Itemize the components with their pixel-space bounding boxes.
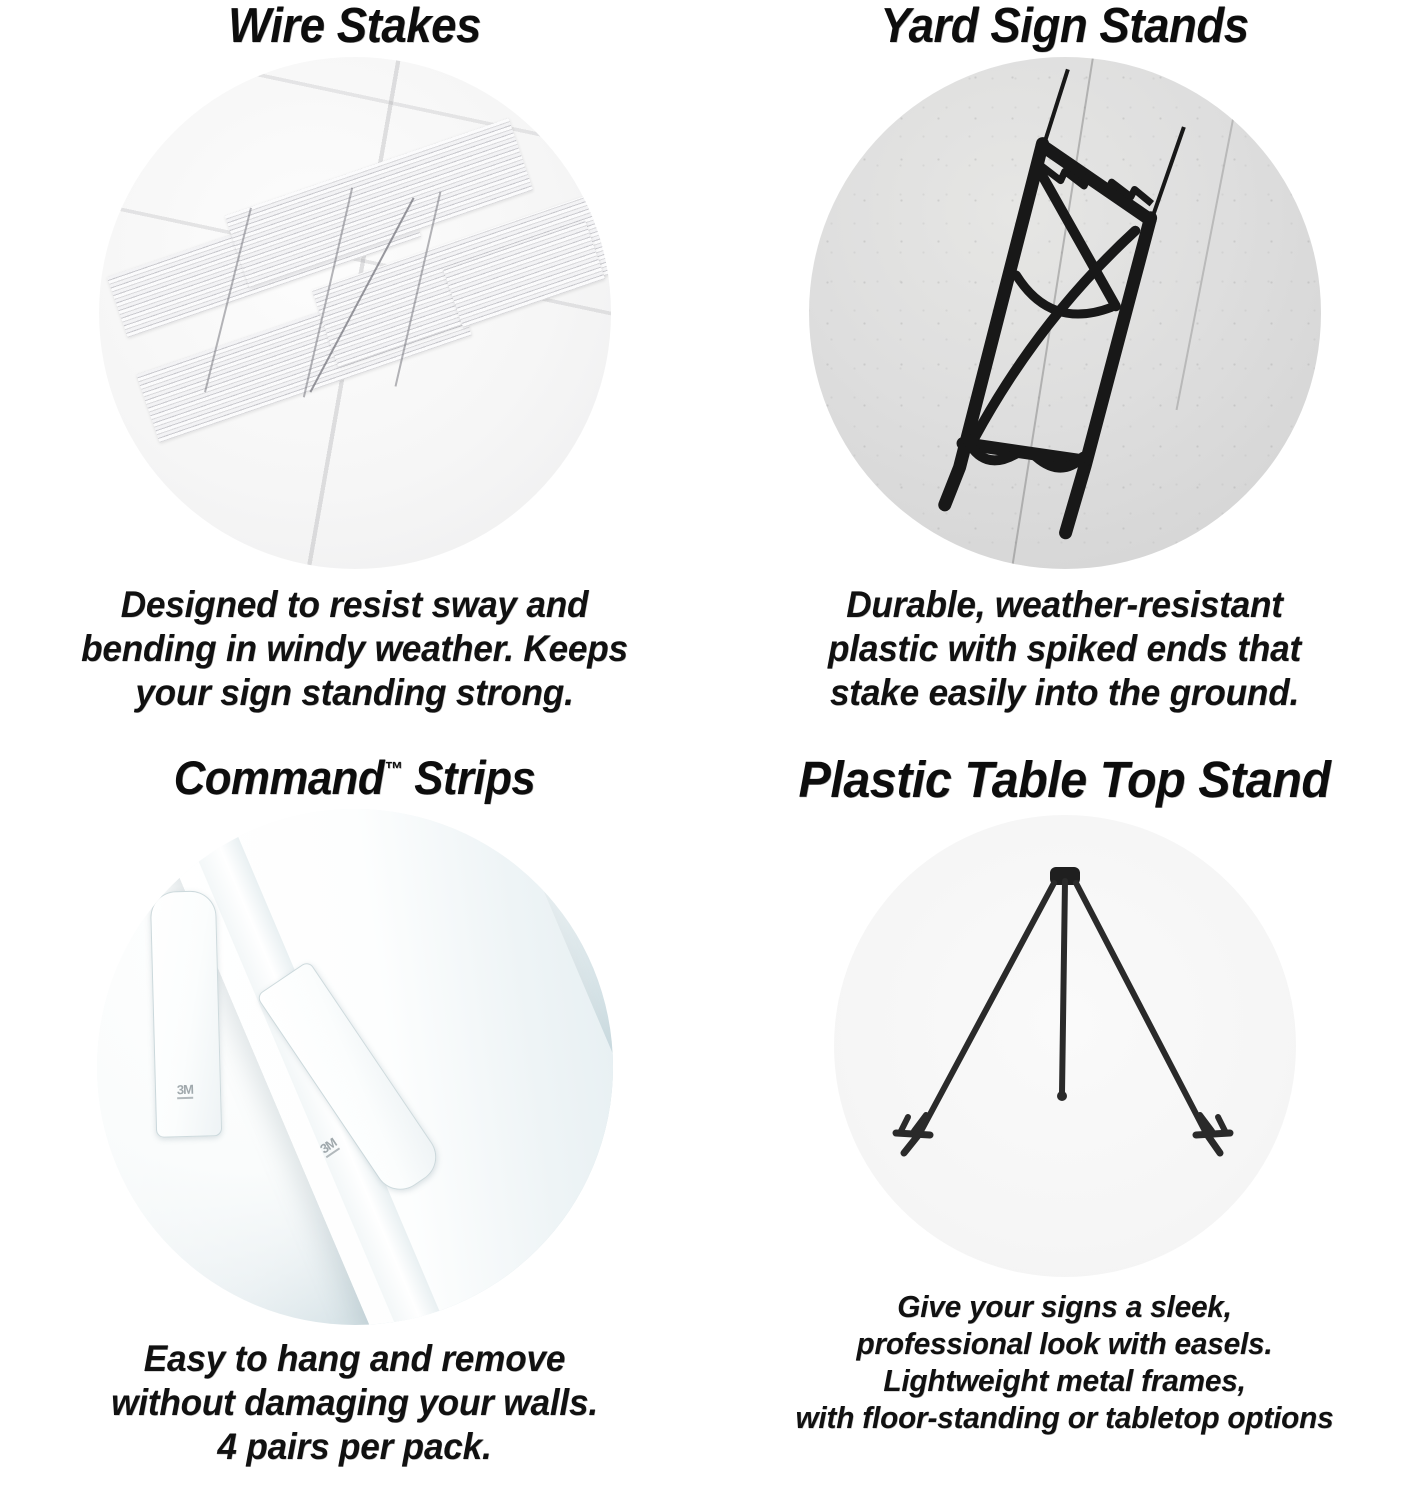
trademark-icon: ™	[384, 758, 402, 780]
photo-wire-stakes	[99, 57, 611, 569]
card-yard-sign-stands: Yard Sign Stands	[710, 0, 1419, 715]
card-title-suffix: Strips	[403, 751, 536, 804]
card-title-command-strips: Command™ Strips	[25, 754, 684, 801]
photo-command-strips: 3M 3M	[97, 809, 613, 1325]
caption-line: professional look with easels.	[724, 1326, 1405, 1363]
caption-line: stake easily into the ground.	[728, 671, 1402, 715]
caption-line: plastic with spiked ends that	[728, 627, 1402, 671]
caption-line: Durable, weather-resistant	[728, 583, 1402, 627]
card-plastic-table-top-stand: Plastic Table Top Stand	[710, 750, 1419, 1437]
caption-line: without damaging your walls.	[18, 1381, 692, 1425]
card-title-yard-sign-stands: Yard Sign Stands	[735, 2, 1394, 51]
3m-logo-icon: 3M	[170, 1083, 198, 1100]
caption-line: Designed to resist sway and	[18, 583, 692, 627]
caption-line: with floor-standing or tabletop options	[724, 1400, 1405, 1437]
yard-sign-stand-graphic	[809, 57, 1321, 569]
card-command-strips: Command™ Strips 3M 3M Easy to hang and r…	[0, 750, 709, 1469]
caption-line: Lightweight metal frames,	[724, 1363, 1405, 1400]
caption-table-top-stand: Give your signs a sleek, professional lo…	[724, 1289, 1405, 1437]
card-wire-stakes: Wire Stakes Designed to resist sway and …	[0, 0, 709, 715]
photo-table-top-stand	[834, 815, 1296, 1277]
caption-line: bending in windy weather. Keeps	[18, 627, 692, 671]
caption-yard-sign-stands: Durable, weather-resistant plastic with …	[728, 583, 1402, 715]
caption-line: Give your signs a sleek,	[724, 1289, 1405, 1326]
caption-line: Easy to hang and remove	[18, 1337, 692, 1381]
card-title-wire-stakes: Wire Stakes	[25, 2, 684, 51]
caption-wire-stakes: Designed to resist sway and bending in w…	[18, 583, 692, 715]
adhesive-strip	[149, 890, 221, 1138]
caption-line: 4 pairs per pack.	[18, 1425, 692, 1469]
photo-yard-sign-stand	[809, 57, 1321, 569]
easel-tripod-graphic	[834, 815, 1296, 1277]
feature-grid-page: Wire Stakes Designed to resist sway and …	[0, 0, 1419, 1500]
caption-line: your sign standing strong.	[18, 671, 692, 715]
card-title-plastic-table-top-stand: Plastic Table Top Stand	[728, 754, 1402, 805]
caption-command-strips: Easy to hang and remove without damaging…	[18, 1337, 692, 1469]
card-title-text: Command	[174, 751, 384, 804]
